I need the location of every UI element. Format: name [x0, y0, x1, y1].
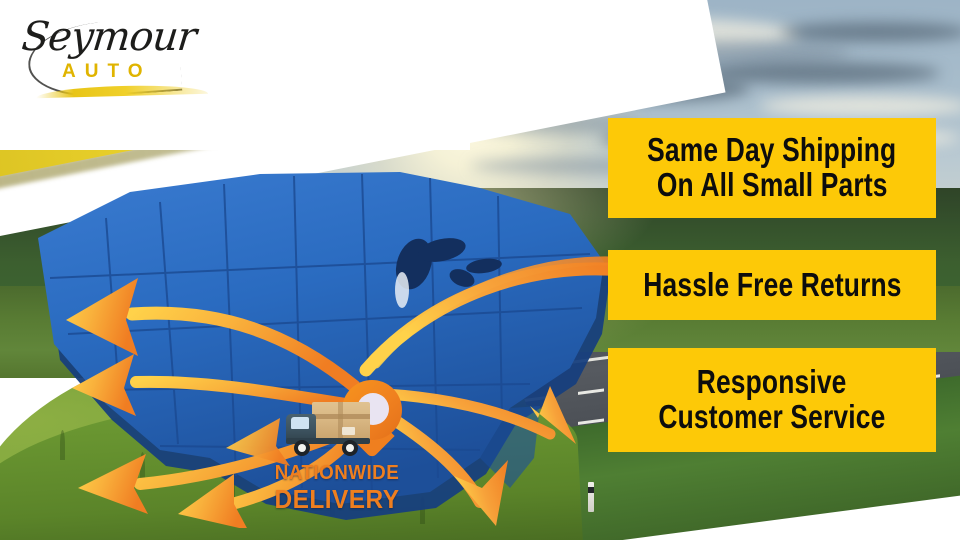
callout-line-1: NATIONWIDE [267, 463, 408, 483]
feature-banner-same-day-shipping[interactable]: Same Day Shipping On All Small Parts [608, 118, 936, 218]
cloud [760, 96, 960, 116]
banner-1-line-1: Same Day Shipping [647, 133, 896, 168]
box-shipping-label [342, 427, 355, 435]
banner-1-line-2: On All Small Parts [657, 168, 888, 203]
feature-banner-hassle-free-returns[interactable]: Hassle Free Returns [608, 250, 936, 320]
feature-banner-responsive-customer-service[interactable]: Responsive Customer Service [608, 348, 936, 452]
truck-wheel-front [294, 440, 310, 456]
logo-auto-text: AUTO [62, 61, 151, 83]
banner-3-line-2: Customer Service [658, 400, 885, 435]
banner-2-line-1: Hassle Free Returns [643, 268, 901, 303]
cloud [780, 22, 960, 42]
nationwide-delivery-callout: NATIONWIDE DELIVERY [262, 463, 412, 512]
truck-window [291, 417, 309, 429]
banner-3-line-1: Responsive [697, 365, 847, 400]
lake-highlight [395, 272, 409, 308]
cloud [700, 62, 940, 84]
seymour-auto-logo[interactable]: Seymour AUTO [22, 14, 222, 102]
truck-wheel-rear [342, 440, 358, 456]
usa-delivery-map: NATIONWIDE DELIVERY [10, 158, 630, 528]
callout-line-2: DELIVERY [267, 486, 408, 512]
logo-script-text: Seymour [20, 14, 198, 60]
promo-banner-stage: Seymour AUTO [0, 0, 960, 540]
delivery-truck-icon [284, 402, 372, 460]
